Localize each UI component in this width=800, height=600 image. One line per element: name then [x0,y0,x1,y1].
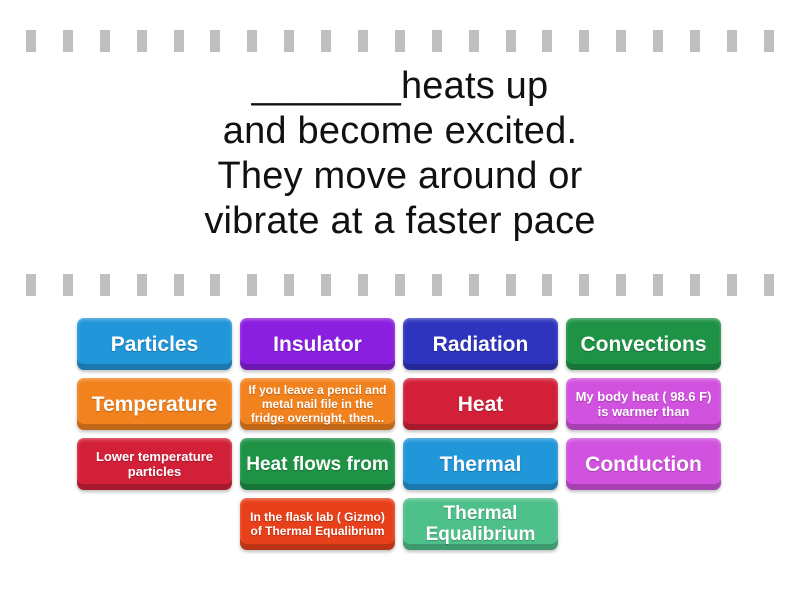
dash-mark [137,30,147,52]
answer-tile-label: Temperature [83,393,226,416]
answer-tile-label: Conduction [572,453,715,476]
dash-mark [247,30,257,52]
dash-mark [100,274,110,296]
answer-tile-grid: ParticlesInsulatorRadiationConvectionsTe… [77,318,725,550]
answer-tile[interactable]: In the flask lab ( Gizmo) of Thermal Equ… [240,498,395,550]
dash-mark [506,274,516,296]
dash-mark [469,30,479,52]
dash-mark [690,274,700,296]
answer-tile[interactable]: Insulator [240,318,395,370]
tile-row: ParticlesInsulatorRadiationConvections [77,318,725,370]
answer-tile-label: Heat [409,393,552,416]
answer-tile-label: If you leave a pencil and metal nail fil… [246,383,389,425]
prompt-line-4: vibrate at a faster pace [0,199,800,244]
dash-mark [210,30,220,52]
dash-mark [321,30,331,52]
dash-mark [727,30,737,52]
answer-tile-label: Convections [572,333,715,356]
answer-tile-label: Lower temperature particles [83,449,226,479]
dash-mark [210,274,220,296]
prompt-line-1: _______heats up [0,64,800,109]
dash-mark [395,30,405,52]
dash-mark [653,274,663,296]
answer-tile-label: Heat flows from [246,454,389,475]
dash-mark [26,274,36,296]
answer-tile[interactable]: Heat [403,378,558,430]
dash-mark [764,30,774,52]
answer-tile[interactable]: My body heat ( 98.6 F) is warmer than [566,378,721,430]
dash-mark [432,30,442,52]
dash-mark [174,274,184,296]
dash-mark [63,274,73,296]
dash-mark [616,30,626,52]
answer-tile[interactable]: Radiation [403,318,558,370]
dash-mark [690,30,700,52]
answer-tile[interactable]: Particles [77,318,232,370]
dash-mark [469,274,479,296]
tile-row: TemperatureIf you leave a pencil and met… [77,378,725,430]
dash-mark [727,274,737,296]
answer-tile[interactable]: Conduction [566,438,721,490]
dash-mark [63,30,73,52]
dashed-separator-top [0,28,800,54]
dash-mark [579,30,589,52]
answer-tile[interactable]: Thermal Equalibrium [403,498,558,550]
answer-tile[interactable]: Lower temperature particles [77,438,232,490]
tile-row: In the flask lab ( Gizmo) of Thermal Equ… [77,498,725,550]
dash-mark [506,30,516,52]
answer-tile[interactable]: Temperature [77,378,232,430]
dash-mark [395,274,405,296]
dash-mark [542,274,552,296]
dash-mark [542,30,552,52]
answer-tile-label: My body heat ( 98.6 F) is warmer than [572,389,715,419]
dash-mark [432,274,442,296]
answer-tile-label: Insulator [246,333,389,356]
dash-mark [284,30,294,52]
prompt-line-3: They move around or [0,154,800,199]
dash-mark [137,274,147,296]
tile-row: Lower temperature particlesHeat flows fr… [77,438,725,490]
dash-mark [358,30,368,52]
answer-tile-label: Particles [83,333,226,356]
answer-tile-label: Thermal [409,453,552,476]
prompt-line-2: and become excited. [0,109,800,154]
dash-mark [579,274,589,296]
dashed-separator-bottom [0,272,800,298]
answer-tile-label: In the flask lab ( Gizmo) of Thermal Equ… [246,510,389,538]
dash-mark [247,274,257,296]
dash-mark [100,30,110,52]
dash-mark [764,274,774,296]
answer-tile[interactable]: If you leave a pencil and metal nail fil… [240,378,395,430]
answer-tile[interactable]: Thermal [403,438,558,490]
dash-mark [26,30,36,52]
answer-tile-label: Thermal Equalibrium [409,503,552,545]
answer-tile[interactable]: Heat flows from [240,438,395,490]
dash-mark [321,274,331,296]
dash-mark [653,30,663,52]
dash-mark [174,30,184,52]
dash-mark [616,274,626,296]
answer-tile[interactable]: Convections [566,318,721,370]
prompt-text: _______heats up and become excited. They… [0,64,800,244]
answer-tile-label: Radiation [409,333,552,356]
dash-mark [284,274,294,296]
dash-mark [358,274,368,296]
